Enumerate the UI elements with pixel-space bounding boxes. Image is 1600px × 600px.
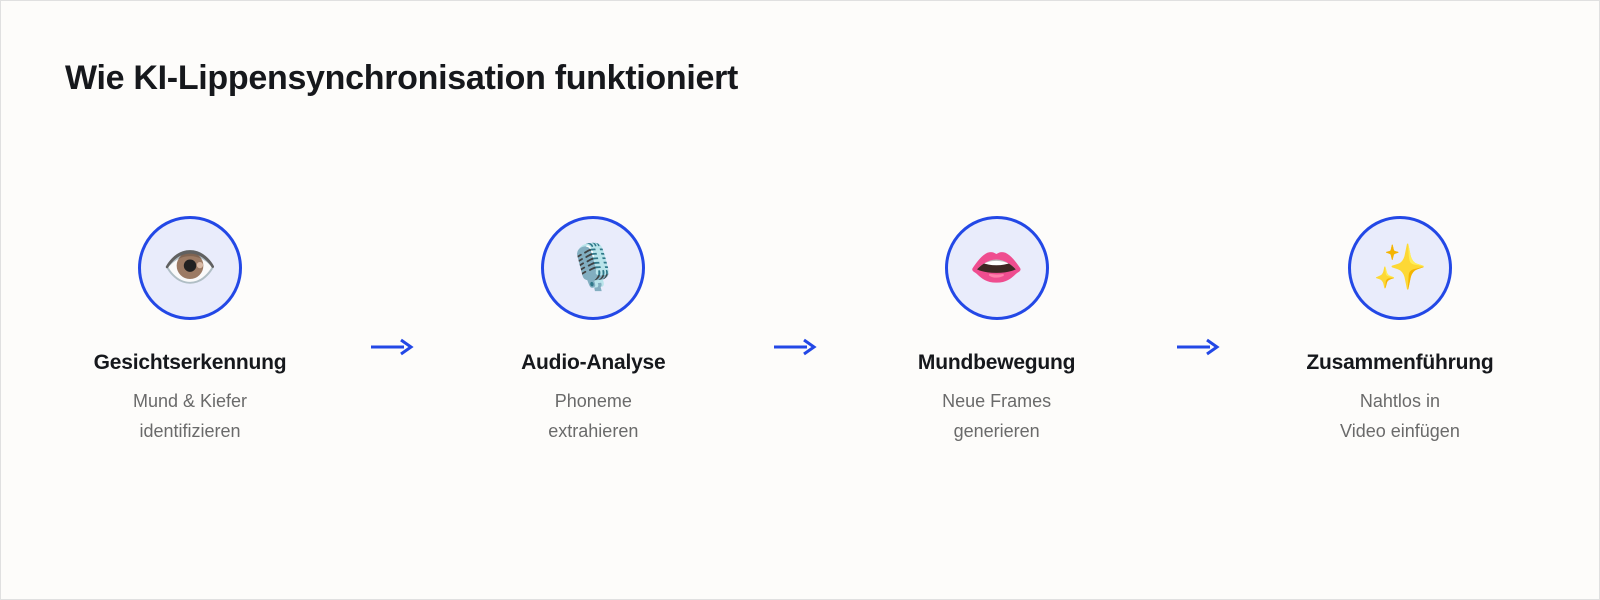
step-3-description: Neue Frames generieren [942,386,1051,446]
process-step-1: 👁️ Gesichtserkennung Mund & Kiefer ident… [65,216,315,446]
process-step-3: 👄 Mundbewegung Neue Frames generieren [872,216,1122,446]
step-2-icon-circle: 🎙️ [541,216,645,320]
step-1-title: Gesichtserkennung [94,351,287,375]
infographic-panel: Wie KI-Lippensynchronisation funktionier… [0,0,1600,600]
step-4-title: Zusammenführung [1306,351,1493,375]
process-step-4: ✨ Zusammenführung Nahtlos in Video einfü… [1275,216,1525,446]
step-3-icon-circle: 👄 [945,216,1049,320]
process-steps-row: 👁️ Gesichtserkennung Mund & Kiefer ident… [65,216,1525,446]
studio-microphone-emoji-icon: 🎙️ [566,246,621,290]
page-title: Wie KI-Lippensynchronisation funktionier… [65,59,738,98]
step-3-title: Mundbewegung [918,351,1075,375]
arrow-right-icon-3 [1163,338,1233,356]
step-4-icon-circle: ✨ [1348,216,1452,320]
sparkles-emoji-icon: ✨ [1373,246,1428,290]
arrow-right-icon-1 [357,338,427,356]
step-2-description: Phoneme extrahieren [548,386,638,446]
eye-emoji-icon: 👁️ [163,246,218,290]
process-step-2: 🎙️ Audio-Analyse Phoneme extrahieren [468,216,718,446]
step-4-description: Nahtlos in Video einfügen [1340,386,1460,446]
mouth-emoji-icon: 👄 [969,246,1024,290]
arrow-right-icon-2 [760,338,830,356]
step-1-description: Mund & Kiefer identifizieren [133,386,247,446]
step-2-title: Audio-Analyse [521,351,665,375]
step-1-icon-circle: 👁️ [138,216,242,320]
